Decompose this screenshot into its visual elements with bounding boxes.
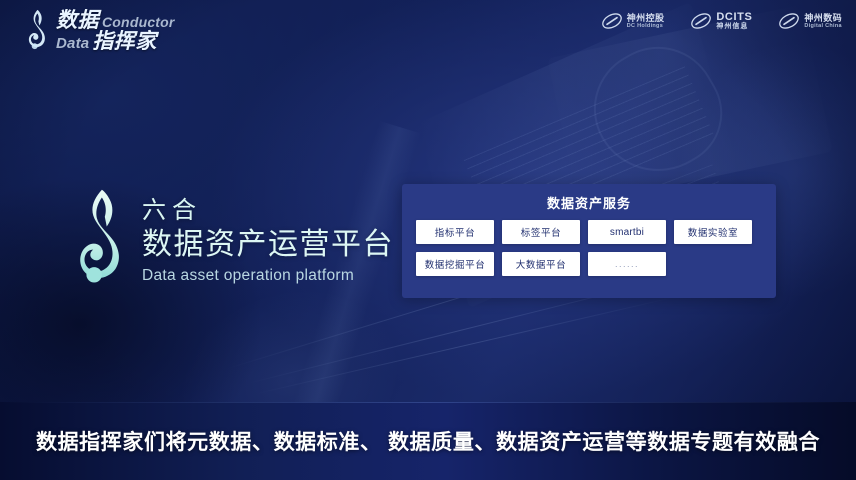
brand-logo: 数据 Conductor Data 指挥家 [22,8,175,54]
caption-text: 数据指挥家们将元数据、数据标准、 数据质量、数据资产运营等数据专题有效融合 [36,426,820,456]
partner-logo-dc-holdings: 神州控股 DC Holdings [601,12,665,30]
partner-name-en: DC Holdings [627,23,665,29]
service-chip-shuju-wajue-pingtai[interactable]: 数据挖掘平台 [416,252,494,276]
treble-clef-icon [22,8,52,54]
partner-name-cn: DCITS [716,11,752,23]
swirl-mark-icon [690,12,712,30]
partner-name-en: 神州信息 [716,23,752,31]
service-chip-zhibiao-pingtai[interactable]: 指标平台 [416,220,494,244]
service-chip-biaoqian-pingtai[interactable]: 标签平台 [502,220,580,244]
panel-title: 数据资产服务 [402,184,776,212]
caption-bar: 数据指挥家们将元数据、数据标准、 数据质量、数据资产运营等数据专题有效融合 [0,402,856,480]
brand-line2-en: Data [56,36,89,51]
product-text: 六合 数据资产运营平台 Data asset operation platfor… [142,196,394,285]
presentation-slide: 数据 Conductor Data 指挥家 神州控股 DC Holdings [0,0,856,480]
service-chip-smartbi[interactable]: smartbi [588,220,666,244]
brand-line2-cn: 指挥家 [92,31,157,52]
partner-name-cn: 神州数码 [804,13,842,23]
service-chip-more[interactable]: ...... [588,252,666,276]
product-title-block: 六合 数据资产运营平台 Data asset operation platfor… [70,186,394,294]
service-chip-shuju-shiyanshi[interactable]: 数据实验室 [674,220,752,244]
product-subtitle: Data asset operation platform [142,267,394,285]
swirl-mark-icon [778,12,800,30]
swirl-mark-icon [601,12,623,30]
partner-name-cn: 神州控股 [627,13,665,23]
product-kicker: 六合 [142,196,394,226]
brand-wordmark: 数据 Conductor Data 指挥家 [56,10,175,52]
brand-line1-cn: 数据 [56,10,99,31]
treble-clef-icon [70,186,128,294]
brand-line1-en: Conductor [102,15,175,29]
page-title: 数据资产运营平台 [142,225,394,264]
partner-logo-dcits: DCITS 神州信息 [690,11,752,31]
data-asset-service-panel: 数据资产服务 指标平台 标签平台 smartbi 数据实验室 数据挖掘平台 大数… [402,184,776,298]
partner-logo-digital-china: 神州数码 Digital China [778,12,842,30]
partner-logo-group: 神州控股 DC Holdings DCITS 神州信息 神州数码 Digital… [601,11,842,31]
partner-name-en: Digital China [804,23,842,29]
service-chip-grid: 指标平台 标签平台 smartbi 数据实验室 数据挖掘平台 大数据平台 ...… [402,212,776,276]
service-chip-dashuju-pingtai[interactable]: 大数据平台 [502,252,580,276]
